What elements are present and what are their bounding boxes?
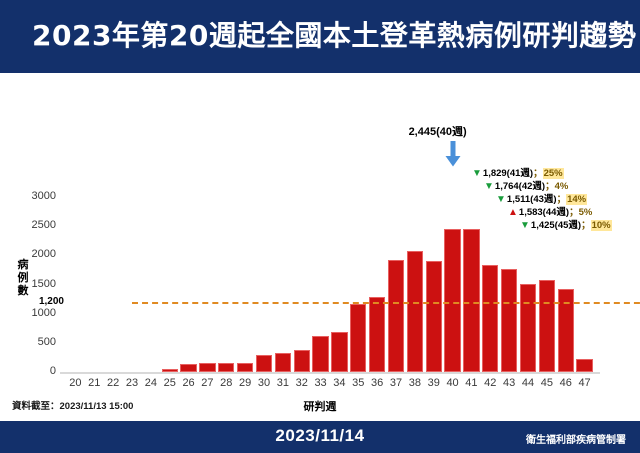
reference-line-label: 1,200 bbox=[30, 296, 64, 307]
bar bbox=[520, 284, 536, 372]
bar bbox=[331, 332, 347, 372]
annotation-percent: 10% bbox=[591, 220, 612, 231]
x-axis-tick: 37 bbox=[386, 377, 406, 389]
x-axis-tick: 28 bbox=[216, 377, 236, 389]
annotation-value: 1,425(45週) bbox=[531, 220, 581, 231]
x-axis-tick: 25 bbox=[160, 377, 180, 389]
annotation-percent: 14% bbox=[566, 194, 587, 205]
x-axis-tick: 47 bbox=[575, 377, 595, 389]
bar bbox=[199, 363, 215, 372]
annotation-percent: 5% bbox=[579, 207, 593, 218]
triangle-down-icon: ▼ bbox=[496, 194, 506, 205]
x-axis-tick: 31 bbox=[273, 377, 293, 389]
annotation-separator: ； bbox=[533, 168, 543, 179]
x-axis-tick: 35 bbox=[348, 377, 368, 389]
y-axis-tick: 1500 bbox=[14, 278, 56, 290]
triangle-down-icon: ▼ bbox=[520, 220, 530, 231]
bar bbox=[350, 304, 366, 372]
x-axis-tick: 44 bbox=[518, 377, 538, 389]
y-axis-tick: 2000 bbox=[14, 248, 56, 260]
slide-root: 2023年第20週起全國本土登革熱病例研判趨勢 病例數 050010001500… bbox=[0, 0, 640, 453]
x-axis-tick: 40 bbox=[443, 377, 463, 389]
annotation-value: 1,764(42週) bbox=[495, 181, 545, 192]
x-axis-tick: 21 bbox=[84, 377, 104, 389]
data-cutoff-note: 資料截至：2023/11/13 15:00 bbox=[12, 398, 133, 412]
x-axis-tick: 23 bbox=[122, 377, 142, 389]
bar bbox=[576, 359, 592, 372]
annotation-row: ▼1,425(45週)；10% bbox=[520, 220, 612, 232]
x-axis-tick: 38 bbox=[405, 377, 425, 389]
title-bar: 2023年第20週起全國本土登革熱病例研判趨勢 bbox=[0, 0, 640, 73]
x-axis-tick: 27 bbox=[197, 377, 217, 389]
annotation-separator: ； bbox=[581, 220, 591, 231]
x-axis-tick: 29 bbox=[235, 377, 255, 389]
x-axis-tick: 20 bbox=[65, 377, 85, 389]
x-axis-tick: 33 bbox=[311, 377, 331, 389]
x-axis-tick: 39 bbox=[424, 377, 444, 389]
x-axis-line bbox=[60, 372, 600, 374]
x-axis-tick: 43 bbox=[499, 377, 519, 389]
x-axis-tick: 24 bbox=[141, 377, 161, 389]
annotation-row: ▲1,583(44週)；5% bbox=[508, 207, 592, 219]
bar bbox=[539, 280, 555, 372]
footer-organization: 衛生福利部疾病管制署 bbox=[526, 431, 626, 446]
x-axis-tick: 32 bbox=[292, 377, 312, 389]
x-axis-tick: 36 bbox=[367, 377, 387, 389]
y-axis-tick: 1000 bbox=[14, 307, 56, 319]
peak-callout-label: 2,445(40週) bbox=[409, 123, 467, 139]
bar bbox=[388, 260, 404, 372]
reference-line-1200 bbox=[132, 302, 640, 304]
annotation-separator: ； bbox=[545, 181, 555, 192]
x-axis-tick: 34 bbox=[329, 377, 349, 389]
x-axis-tick: 26 bbox=[179, 377, 199, 389]
bar bbox=[162, 369, 178, 372]
bar bbox=[463, 229, 479, 372]
y-axis-tick: 3000 bbox=[14, 190, 56, 202]
annotation-value: 1,829(41週) bbox=[483, 168, 533, 179]
bar bbox=[426, 261, 442, 372]
annotation-row: ▼1,829(41週)；25% bbox=[472, 168, 564, 180]
triangle-down-icon: ▼ bbox=[484, 181, 494, 192]
bar bbox=[256, 355, 272, 372]
bar bbox=[407, 251, 423, 372]
annotation-separator: ； bbox=[569, 207, 579, 218]
y-axis-tick: 2500 bbox=[14, 219, 56, 231]
annotation-value: 1,511(43週) bbox=[507, 194, 557, 205]
chart-container: 病例數 050010001500200025003000 1,200 20212… bbox=[0, 73, 640, 385]
bar bbox=[482, 265, 498, 372]
page-title: 2023年第20週起全國本土登革熱病例研判趨勢 bbox=[32, 14, 636, 54]
x-axis-tick: 46 bbox=[556, 377, 576, 389]
x-axis-tick: 30 bbox=[254, 377, 274, 389]
annotation-value: 1,583(44週) bbox=[519, 207, 569, 218]
y-axis-tick: 500 bbox=[14, 336, 56, 348]
annotation-percent: 25% bbox=[543, 168, 564, 179]
annotation-percent: 4% bbox=[555, 181, 569, 192]
triangle-down-icon: ▼ bbox=[472, 168, 482, 179]
down-arrow-icon bbox=[445, 141, 461, 172]
bar bbox=[180, 364, 196, 372]
triangle-up-icon: ▲ bbox=[508, 207, 518, 218]
bar bbox=[444, 229, 460, 372]
x-axis-tick: 45 bbox=[537, 377, 557, 389]
bar bbox=[237, 363, 253, 372]
bar bbox=[369, 297, 385, 372]
annotation-separator: ； bbox=[557, 194, 567, 205]
bar bbox=[218, 363, 234, 372]
x-axis-tick: 41 bbox=[461, 377, 481, 389]
y-axis-tick: 0 bbox=[14, 365, 56, 377]
annotation-row: ▼1,511(43週)；14% bbox=[496, 194, 587, 206]
bar bbox=[294, 350, 310, 372]
bar bbox=[275, 353, 291, 372]
plot-area bbox=[66, 197, 594, 372]
annotation-row: ▼1,764(42週)；4% bbox=[484, 181, 568, 193]
bar bbox=[312, 336, 328, 372]
bar bbox=[501, 269, 517, 372]
x-axis-tick: 42 bbox=[480, 377, 500, 389]
x-axis-tick: 22 bbox=[103, 377, 123, 389]
